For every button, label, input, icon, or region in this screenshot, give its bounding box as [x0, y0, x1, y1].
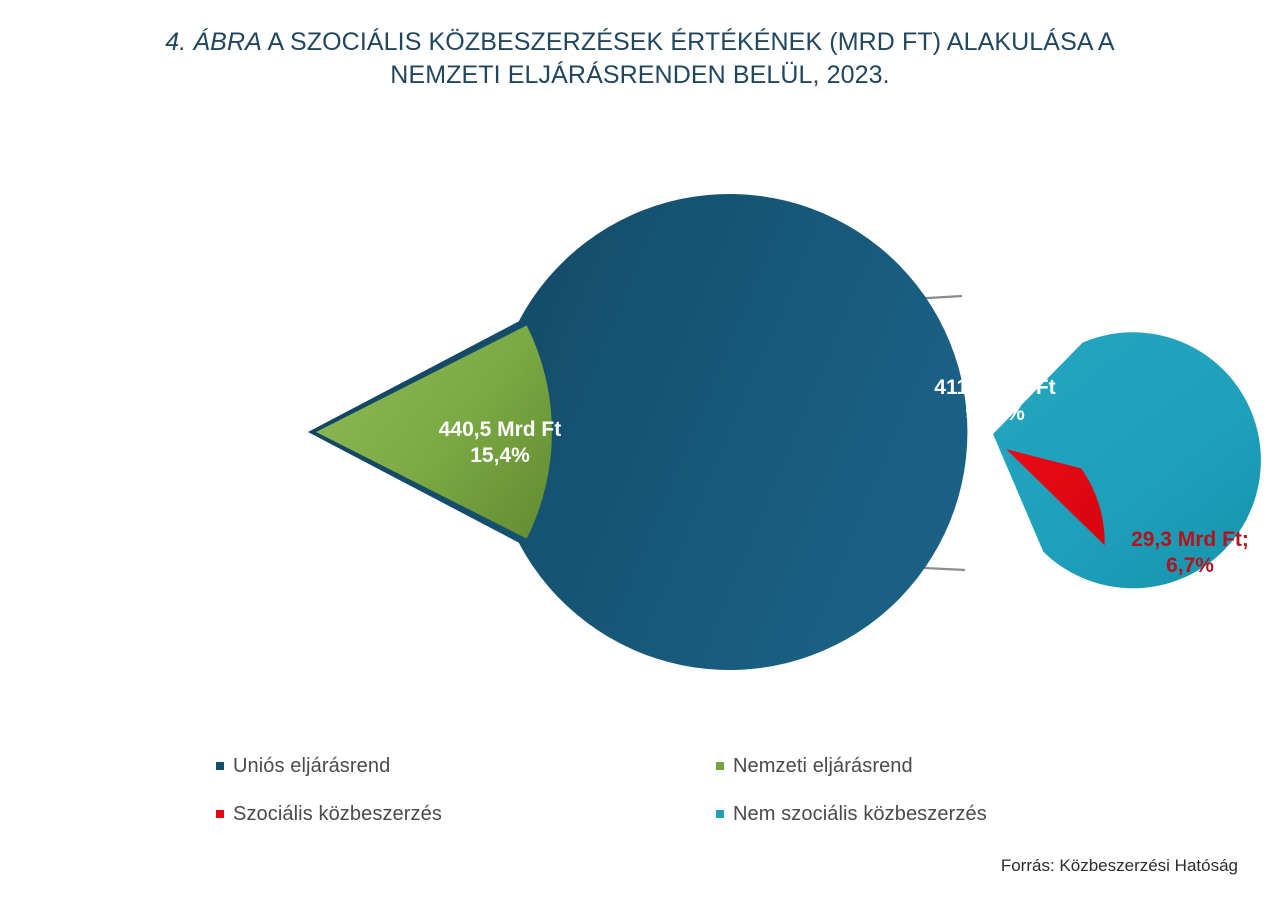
legend-item-social[interactable]: Szociális közbeszerzés — [216, 790, 716, 838]
legend-swatch-icon — [216, 810, 224, 818]
legend-item-union[interactable]: Uniós eljárásrend — [216, 742, 716, 790]
legend-label: Nemzeti eljárásrend — [733, 755, 913, 778]
legend-label: Nem szociális közbeszerzés — [733, 803, 987, 826]
source-note: Forrás: Közbeszerzési Hatóság — [1001, 856, 1238, 876]
legend-label: Uniós eljárásrend — [233, 755, 390, 778]
pie-slice-national[interactable] — [316, 325, 552, 538]
legend-swatch-icon — [716, 762, 724, 770]
legend-item-nonsocial[interactable]: Nem szociális közbeszerzés — [716, 790, 1096, 838]
breakout-pie — [993, 332, 1261, 588]
legend-swatch-icon — [216, 762, 224, 770]
main-pie — [308, 194, 967, 670]
legend-swatch-icon — [716, 810, 724, 818]
legend-item-national[interactable]: Nemzeti eljárásrend — [716, 742, 1096, 790]
legend-label: Szociális közbeszerzés — [233, 803, 442, 826]
legend: Uniós eljárásrend Nemzeti eljárásrend Sz… — [216, 742, 1096, 838]
